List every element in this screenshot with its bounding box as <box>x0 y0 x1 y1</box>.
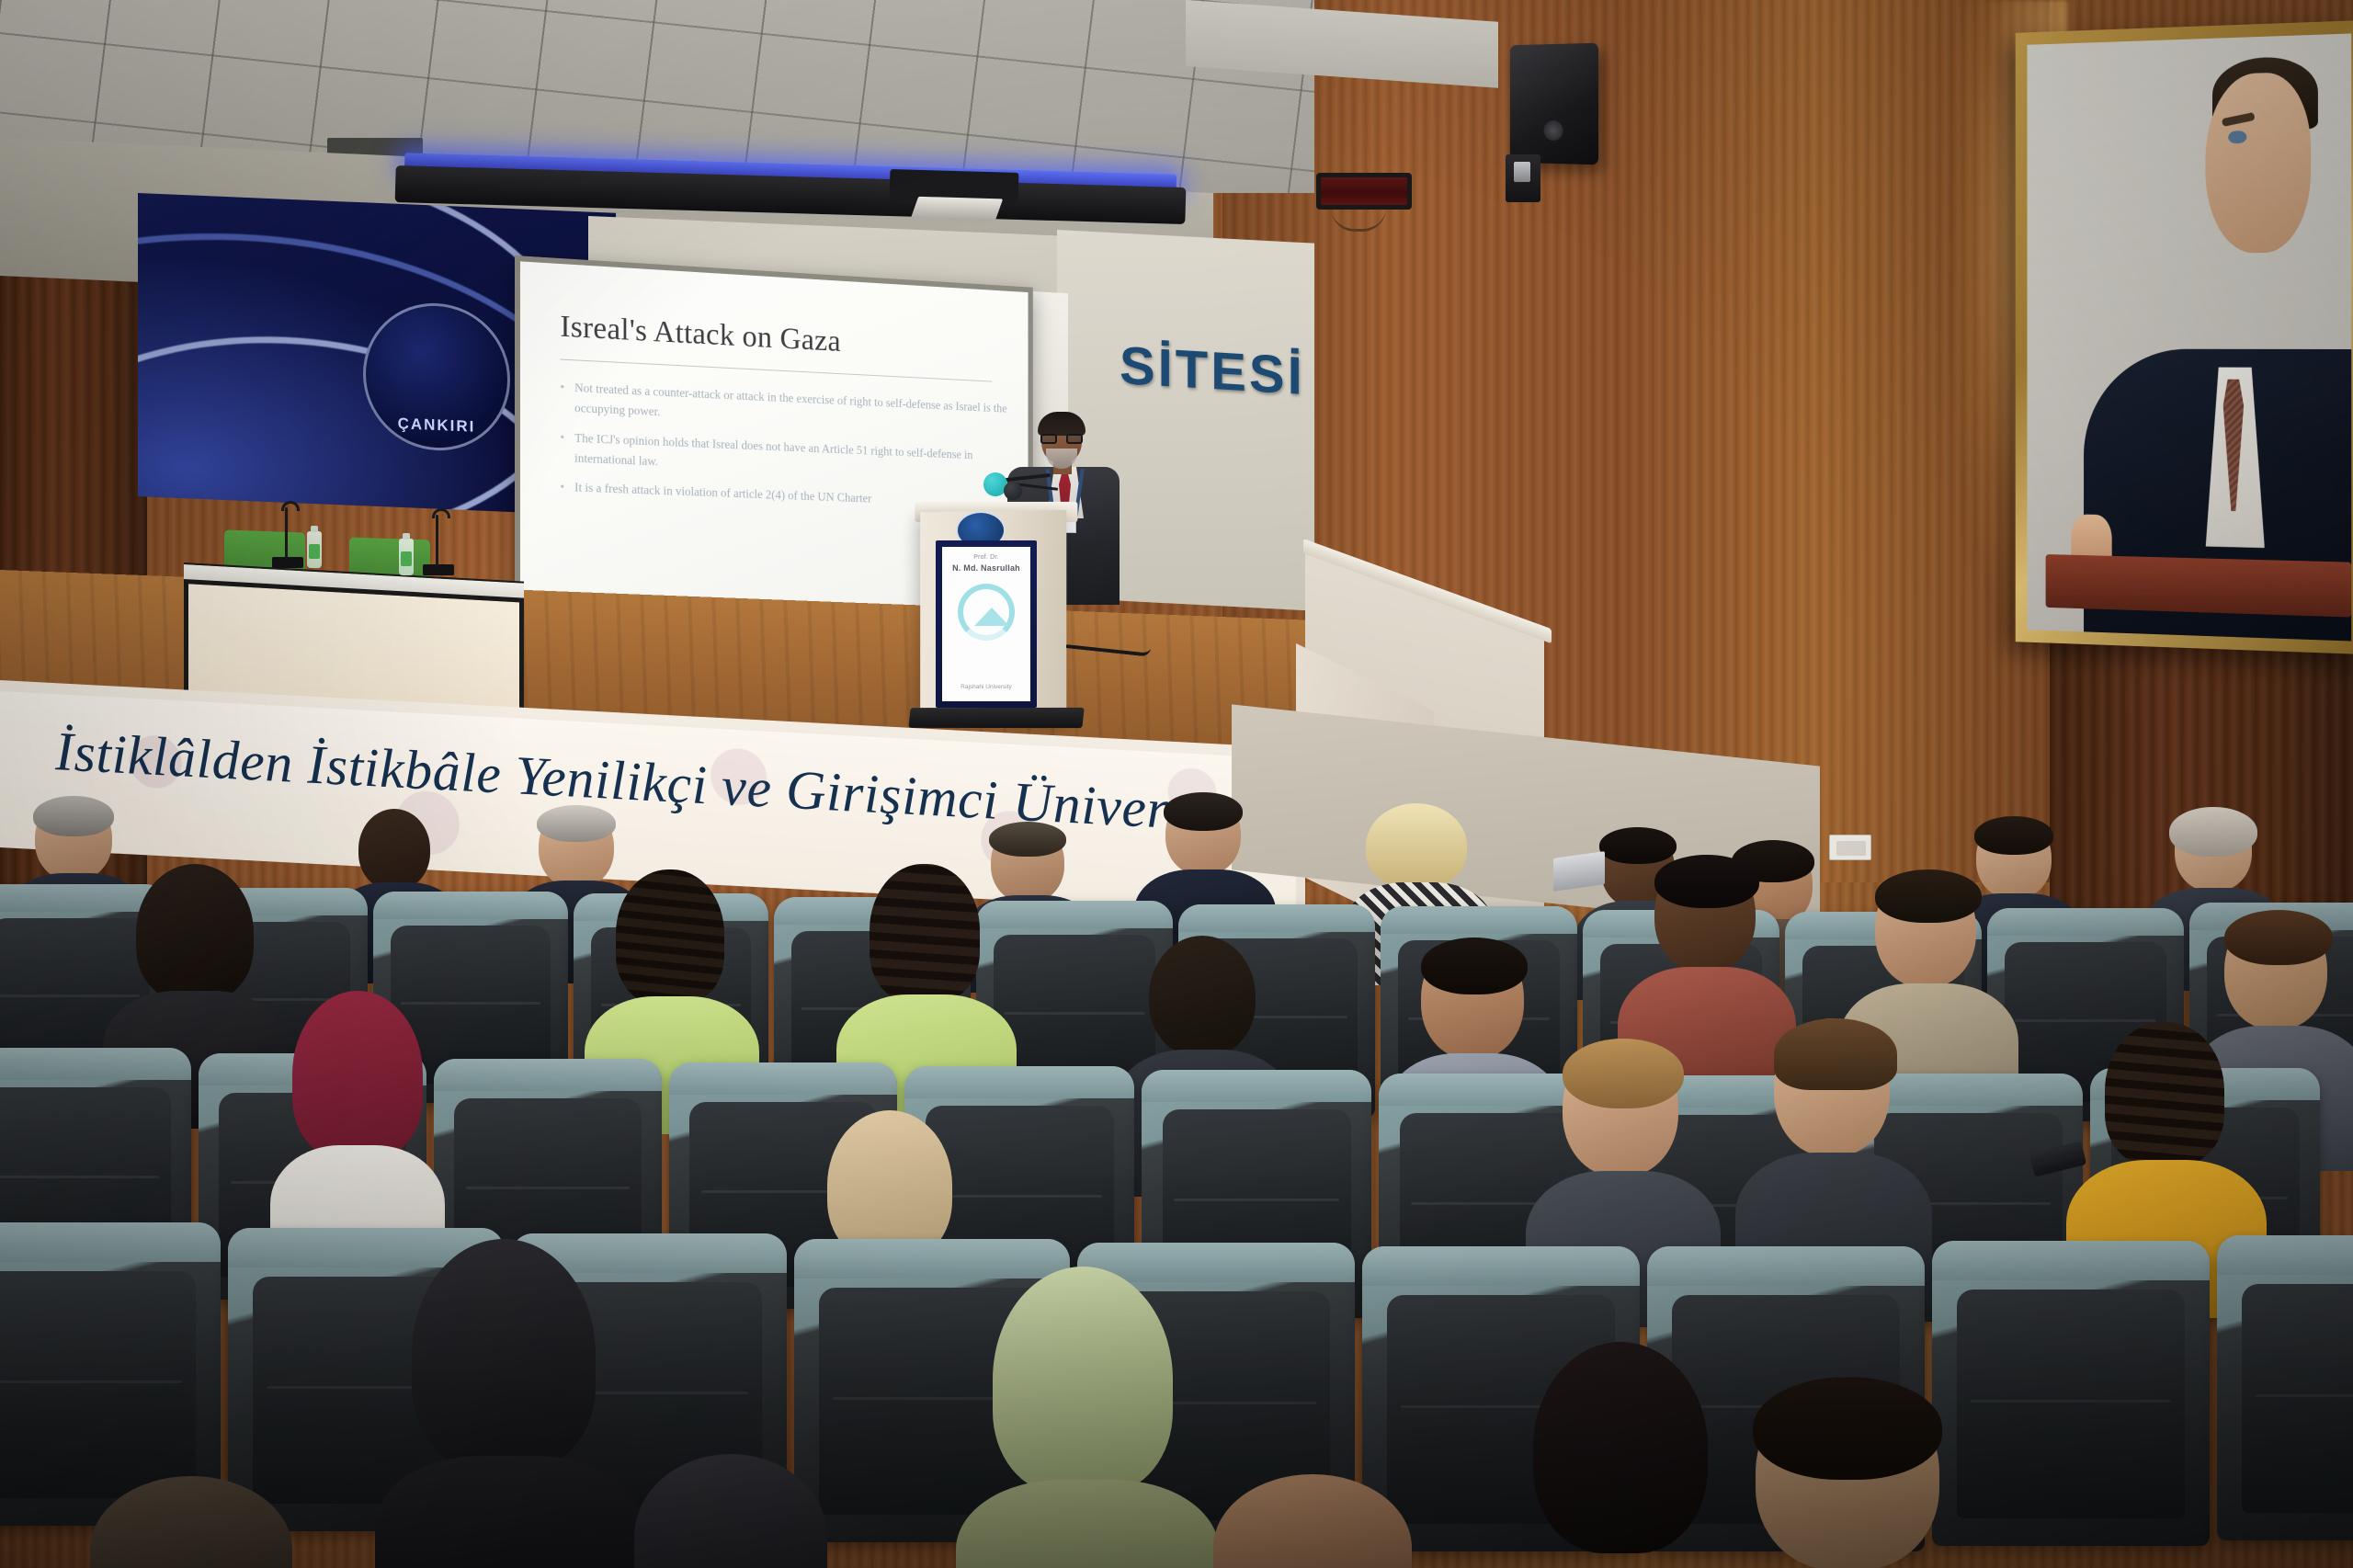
seat-headrest <box>0 1222 221 1262</box>
person-hair-blonde <box>1366 803 1467 888</box>
person-hair <box>1875 869 1982 923</box>
podium-display-content: Prof. Dr. N. Md. Nasrullah Rajshahi Univ… <box>942 547 1030 701</box>
person-head <box>1149 936 1256 1057</box>
person-hair <box>1654 855 1759 908</box>
podium-nameplate-display: Prof. Dr. N. Md. Nasrullah Rajshahi Univ… <box>936 540 1037 708</box>
ataturk-portrait-frame <box>2016 20 2353 654</box>
podium-speaker-name: N. Md. Nasrullah <box>952 563 1020 573</box>
seat-headrest <box>1178 904 1375 932</box>
person-body <box>375 1456 642 1568</box>
seat-headrest <box>373 892 568 919</box>
slide-bullet: Not treated as a counter-attack or attac… <box>560 377 1009 437</box>
person-head <box>358 809 430 890</box>
podium-base <box>908 708 1084 728</box>
seat-headrest <box>1142 1070 1371 1102</box>
wall-heater <box>1316 173 1412 210</box>
person-hair <box>2224 910 2333 965</box>
person-hijab <box>993 1267 1173 1493</box>
seat-headrest <box>904 1066 1134 1098</box>
portrait-face <box>2206 71 2312 254</box>
person-head-afro <box>136 864 254 1002</box>
ataturk-portrait-image <box>2028 33 2352 641</box>
microphone-stem <box>285 507 288 559</box>
auditorium-seat[interactable] <box>2217 1235 2353 1540</box>
water-bottle <box>399 539 414 575</box>
seat-headrest <box>1932 1241 2210 1280</box>
microphone-base <box>423 564 454 575</box>
person-hair <box>1563 1039 1684 1108</box>
projector-lens <box>911 197 1003 221</box>
person-hair <box>1599 827 1677 864</box>
panel-microphone <box>423 511 456 575</box>
slide-bullet: The ICJ's opinion holds that Isreal does… <box>560 427 1009 485</box>
seat-headrest <box>1987 908 2184 936</box>
microphone-base <box>272 557 303 568</box>
person-hair <box>33 796 114 836</box>
seat-headrest <box>794 1239 1070 1278</box>
person-hair-bun <box>1774 1018 1897 1090</box>
speaker-glasses <box>1040 434 1083 444</box>
person-hair <box>1974 816 2053 855</box>
slide-title: Isreal's Attack on Gaza <box>560 310 840 359</box>
person-hair <box>1164 792 1243 831</box>
slide-divider <box>560 359 992 382</box>
wall-speaker-icon <box>1510 43 1598 165</box>
person-head-braids <box>2105 1022 2224 1165</box>
seat-headrest <box>1381 906 1577 934</box>
bottle-cap <box>311 526 318 532</box>
person-hair-grey <box>2169 807 2257 857</box>
seat-headrest <box>434 1059 662 1091</box>
person-head-braids <box>616 869 724 1004</box>
heater-element <box>1321 177 1407 205</box>
auditorium-seat[interactable] <box>1932 1241 2210 1546</box>
podium-microphone-head-2 <box>1004 482 1022 500</box>
podium-organization: Rajshahi University <box>961 683 1012 692</box>
person-hair <box>989 822 1066 857</box>
podium-pretitle: Prof. Dr. <box>973 554 998 561</box>
speaker-mount-bracket <box>1506 154 1540 202</box>
bottle-cap <box>403 533 410 540</box>
panel-microphone <box>272 504 305 568</box>
person-hair <box>1753 1377 1942 1480</box>
person-hair <box>1421 937 1528 994</box>
podium-logo-icon <box>958 584 1015 641</box>
person-hair <box>537 805 616 842</box>
person-hijab <box>292 991 423 1158</box>
seat-headrest <box>2217 1235 2353 1275</box>
seat-headrest <box>1362 1246 1640 1286</box>
seat-headrest <box>0 1048 191 1080</box>
seat-headrest <box>1647 1246 1925 1286</box>
person-head <box>1533 1342 1708 1553</box>
portrait-desk <box>2046 554 2351 617</box>
auditorium-photo: ÇANKIRI SİTESİ Isreal's Attack on Gaza N… <box>0 0 2353 1568</box>
water-bottle <box>307 531 322 568</box>
microphone-stem <box>436 515 438 566</box>
person-head-braids <box>870 864 980 1002</box>
seat-headrest <box>976 901 1173 928</box>
wall-sign-text: SİTESİ <box>1120 335 1305 407</box>
seat-headrest <box>669 1062 897 1095</box>
speaker-hair <box>1038 412 1086 436</box>
wall-socket <box>1829 835 1871 860</box>
person-hijab <box>412 1239 596 1469</box>
